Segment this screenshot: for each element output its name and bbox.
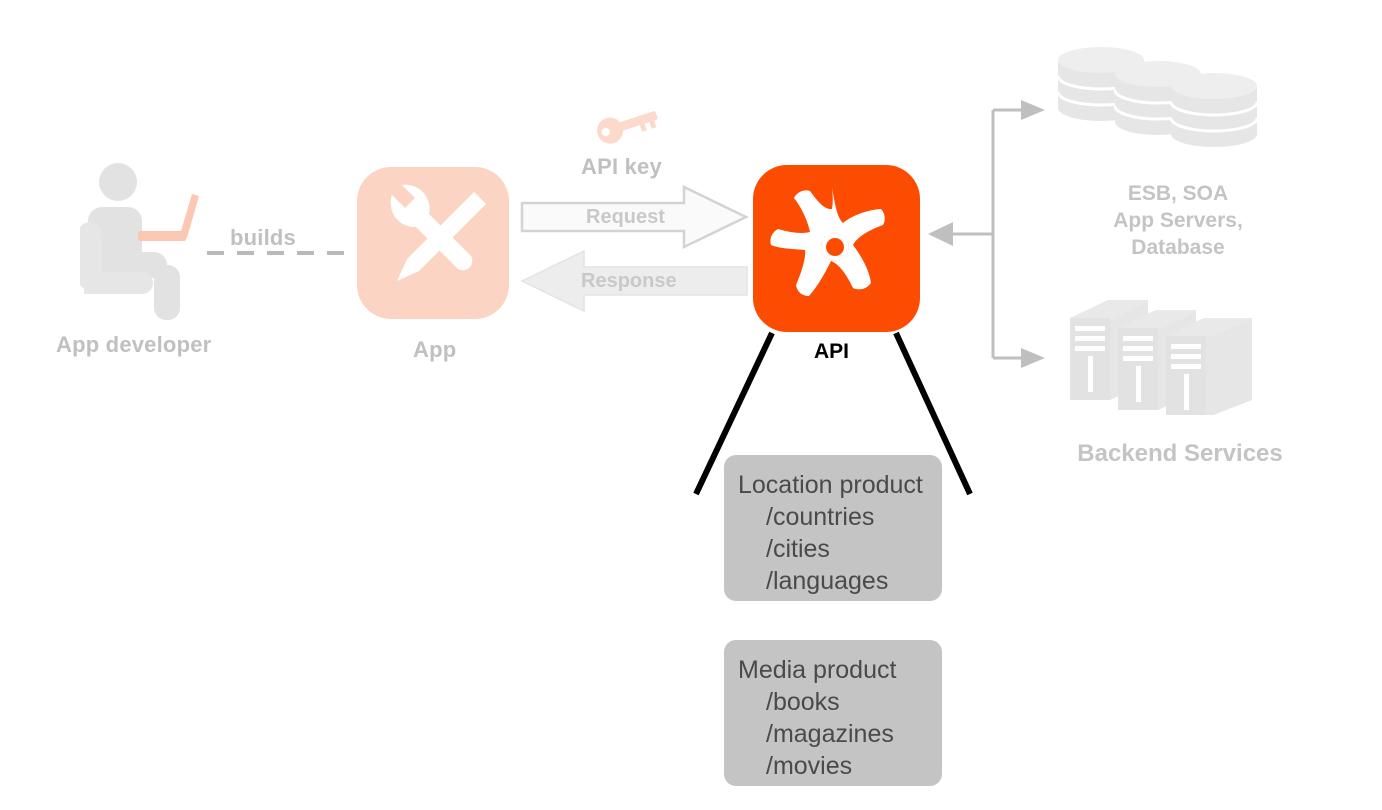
media-product-path-magazines: /magazines — [738, 718, 924, 750]
backend-services-label: Backend Services — [1040, 440, 1320, 467]
api-tile[interactable] — [753, 165, 920, 332]
location-product-path-cities: /cities — [738, 533, 924, 565]
api-starburst-icon — [753, 165, 920, 332]
location-product-title: Location product — [738, 469, 924, 501]
media-product-path-books: /books — [738, 686, 924, 718]
app-developer-label: App developer — [56, 332, 211, 358]
location-product-path-countries: /countries — [738, 501, 924, 533]
request-label: Request — [586, 206, 665, 229]
location-product-path-languages: /languages — [738, 565, 924, 597]
api-key-label: API key — [581, 154, 662, 180]
app-developer-icon — [80, 160, 210, 320]
datastore-label: ESB, SOA App Servers, Database — [1058, 180, 1298, 261]
backend-routing-arrows — [920, 95, 1050, 370]
media-product-box[interactable]: Media product /books /magazines /movies — [724, 640, 942, 786]
wrench-and-pencil-icon — [357, 167, 509, 319]
media-product-title: Media product — [738, 654, 924, 686]
database-cylinders-icon — [1053, 38, 1303, 148]
key-icon — [592, 108, 662, 146]
server-racks-icon — [1060, 290, 1290, 415]
diagram-canvas: App developer builds App A — [0, 0, 1382, 810]
app-tile[interactable] — [357, 167, 509, 319]
builds-label: builds — [230, 225, 296, 251]
media-product-path-movies: /movies — [738, 750, 924, 782]
response-label: Response — [581, 270, 677, 293]
location-product-box[interactable]: Location product /countries /cities /lan… — [724, 455, 942, 601]
app-label: App — [413, 337, 456, 363]
